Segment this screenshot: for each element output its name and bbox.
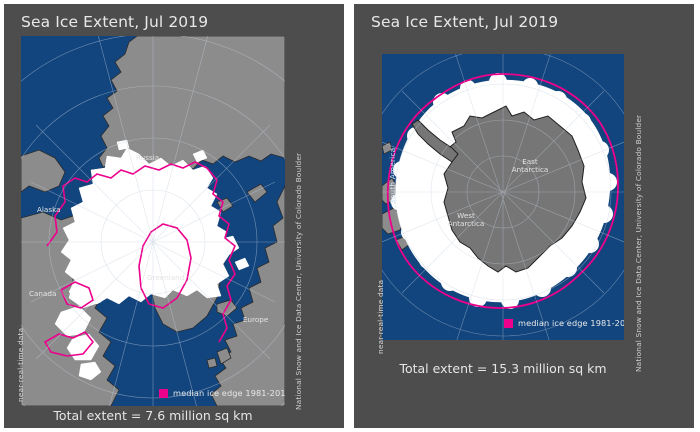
arctic-map-svg bbox=[21, 36, 285, 406]
figure-root: Sea Ice Extent, Jul 2019 bbox=[0, 0, 700, 432]
median-ice-edge-swatch-icon bbox=[159, 389, 168, 398]
antarctic-legend: median ice edge 1981-2010 bbox=[504, 318, 624, 328]
antarctic-total-extent-caption: Total extent = 15.3 million sq km bbox=[382, 361, 624, 376]
median-ice-edge-swatch-icon bbox=[504, 319, 513, 328]
map-label-south-america: South America bbox=[388, 148, 397, 204]
antarctic-legend-label: median ice edge 1981-2010 bbox=[518, 318, 624, 328]
antarctic-map[interactable]: East Antarctica West Antarctica South Am… bbox=[382, 54, 624, 340]
panel-antarctic: Sea Ice Extent, Jul 2019 bbox=[354, 4, 694, 428]
arctic-legend: median ice edge 1981-2010 bbox=[159, 388, 285, 398]
arctic-source-credit: National Snow and Ice Data Center, Unive… bbox=[294, 153, 303, 410]
panel-antarctic-title: Sea Ice Extent, Jul 2019 bbox=[371, 13, 558, 31]
arctic-legend-label: median ice edge 1981-2010 bbox=[173, 388, 285, 398]
arctic-near-real-time-note: near-real-time data bbox=[16, 328, 25, 402]
antarctic-map-svg bbox=[382, 54, 624, 340]
panel-arctic: Sea Ice Extent, Jul 2019 bbox=[4, 4, 344, 428]
arctic-map[interactable]: Russia Alaska Canada Greenland Europe me… bbox=[21, 36, 285, 406]
antarctic-near-real-time-note: near-real-time data bbox=[376, 280, 385, 354]
panel-arctic-title: Sea Ice Extent, Jul 2019 bbox=[21, 13, 208, 31]
arctic-total-extent-caption: Total extent = 7.6 million sq km bbox=[21, 408, 285, 423]
antarctic-source-credit: National Snow and Ice Data Center, Unive… bbox=[634, 115, 643, 372]
